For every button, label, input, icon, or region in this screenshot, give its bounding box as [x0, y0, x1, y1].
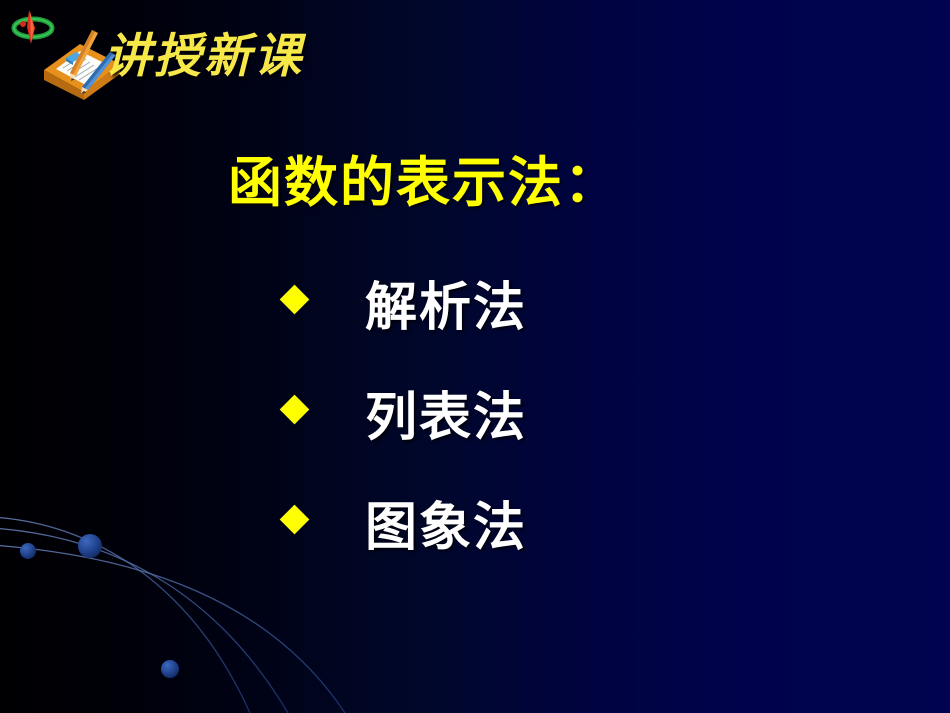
list-item-label: 图象法	[365, 485, 527, 560]
decor-arc-2	[0, 528, 288, 713]
list-item-label: 解析法	[365, 265, 527, 340]
page-title: 函数的表示法：	[228, 138, 620, 217]
decor-dot-2	[78, 534, 102, 558]
list-item-label: 列表法	[365, 375, 527, 450]
header-title: 讲授新课	[104, 30, 304, 84]
list-item[interactable]: 列表法	[284, 380, 804, 490]
diamond-bullet-icon	[280, 395, 310, 425]
slide-canvas: 讲授新课 函数的表示法： 解析法 列表法 图象法	[0, 0, 950, 713]
diamond-bullet-icon	[280, 505, 310, 535]
decor-dot-1	[20, 543, 36, 559]
list-item[interactable]: 解析法	[284, 270, 804, 380]
decor-arc-1	[0, 517, 250, 713]
list-item[interactable]: 图象法	[284, 490, 804, 600]
method-list: 解析法 列表法 图象法	[284, 270, 804, 600]
decor-dot-3	[161, 660, 179, 678]
diamond-bullet-icon	[280, 285, 310, 315]
header: 讲授新课	[0, 0, 950, 110]
